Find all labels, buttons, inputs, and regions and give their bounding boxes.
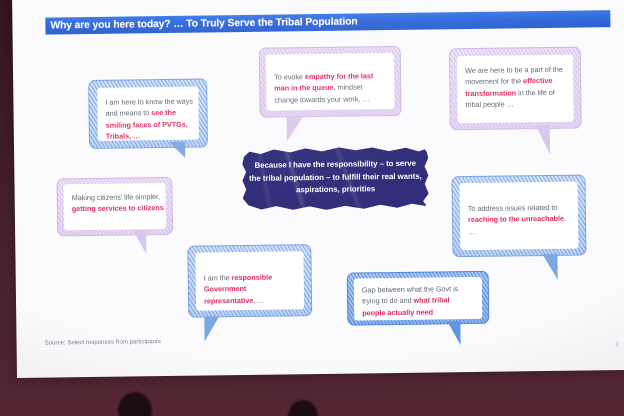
bubble-tail (133, 230, 146, 254)
presentation-slide: Why are you here today? … To Truly Serve… (12, 0, 624, 378)
slide-title: Why are you here today? … To Truly Serve… (45, 16, 357, 31)
source-note: Source: Select responses from participan… (45, 338, 161, 347)
bubble-text: I am the responsible Government represen… (204, 271, 299, 306)
projection-screen: Why are you here today? … To Truly Serve… (12, 0, 624, 378)
bubble-tail (287, 117, 303, 141)
bubble-text: Gap between what the Govt is trying to d… (362, 283, 473, 319)
bubble-text-plain-1: I am here to know the ways and means to (105, 97, 193, 119)
bubble-tail (542, 254, 557, 280)
bubble-text: I am here to know the ways and means to … (105, 96, 194, 143)
speech-bubble-empathy-last-man: To evoke empathy for the last man in the… (259, 46, 402, 143)
bubble-text-highlight-1: reaching to the unreachable (468, 214, 564, 224)
speech-bubble-govt-gap: Gap between what the Govt is trying to d… (347, 271, 490, 348)
bubble-tail (169, 142, 185, 158)
speech-bubble-services-to-citizens: Making citizens' life simpler, getting s… (56, 177, 173, 259)
speech-bubble-responsible-government: I am the responsible Government represen… (187, 244, 312, 342)
bubble-text: To address issues related to reaching to… (468, 202, 572, 238)
bubble-text: To evoke empathy for the last man in the… (274, 70, 387, 106)
slide-title-bar: Why are you here today? … To Truly Serve… (45, 10, 610, 34)
speech-bubble-effective-transformation: We are here to be a part of the movement… (449, 47, 582, 159)
bubble-tail (447, 321, 460, 345)
screenshot-stage: Why are you here today? … To Truly Serve… (0, 0, 624, 416)
central-statement-text: Because I have the responsibility – to s… (248, 158, 422, 198)
speech-bubble-reaching-unreachable: To address issues related to reaching to… (451, 175, 586, 282)
bubble-tail (536, 125, 550, 155)
bubble-tail (204, 316, 219, 341)
bubble-text-plain-1: I am the (204, 273, 232, 282)
page-number: 6 (616, 342, 619, 348)
speech-bubble-smiling-faces: I am here to know the ways and means to … (88, 78, 208, 149)
bubble-text: We are here to be a part of the movement… (465, 64, 571, 111)
bubble-text-plain-1: To evoke (274, 72, 305, 81)
bubble-text-plain-1: Making citizens' life simpler, (72, 192, 160, 202)
central-statement-banner: Because I have the responsibility – to s… (242, 146, 429, 211)
bubble-text-plain-1: To address issues related to (468, 203, 558, 213)
bubble-text-highlight-1: getting services to citizens (72, 203, 164, 213)
bubble-text: Making citizens' life simpler, getting s… (72, 191, 165, 215)
bubble-text-plain-2: , … (253, 296, 264, 305)
